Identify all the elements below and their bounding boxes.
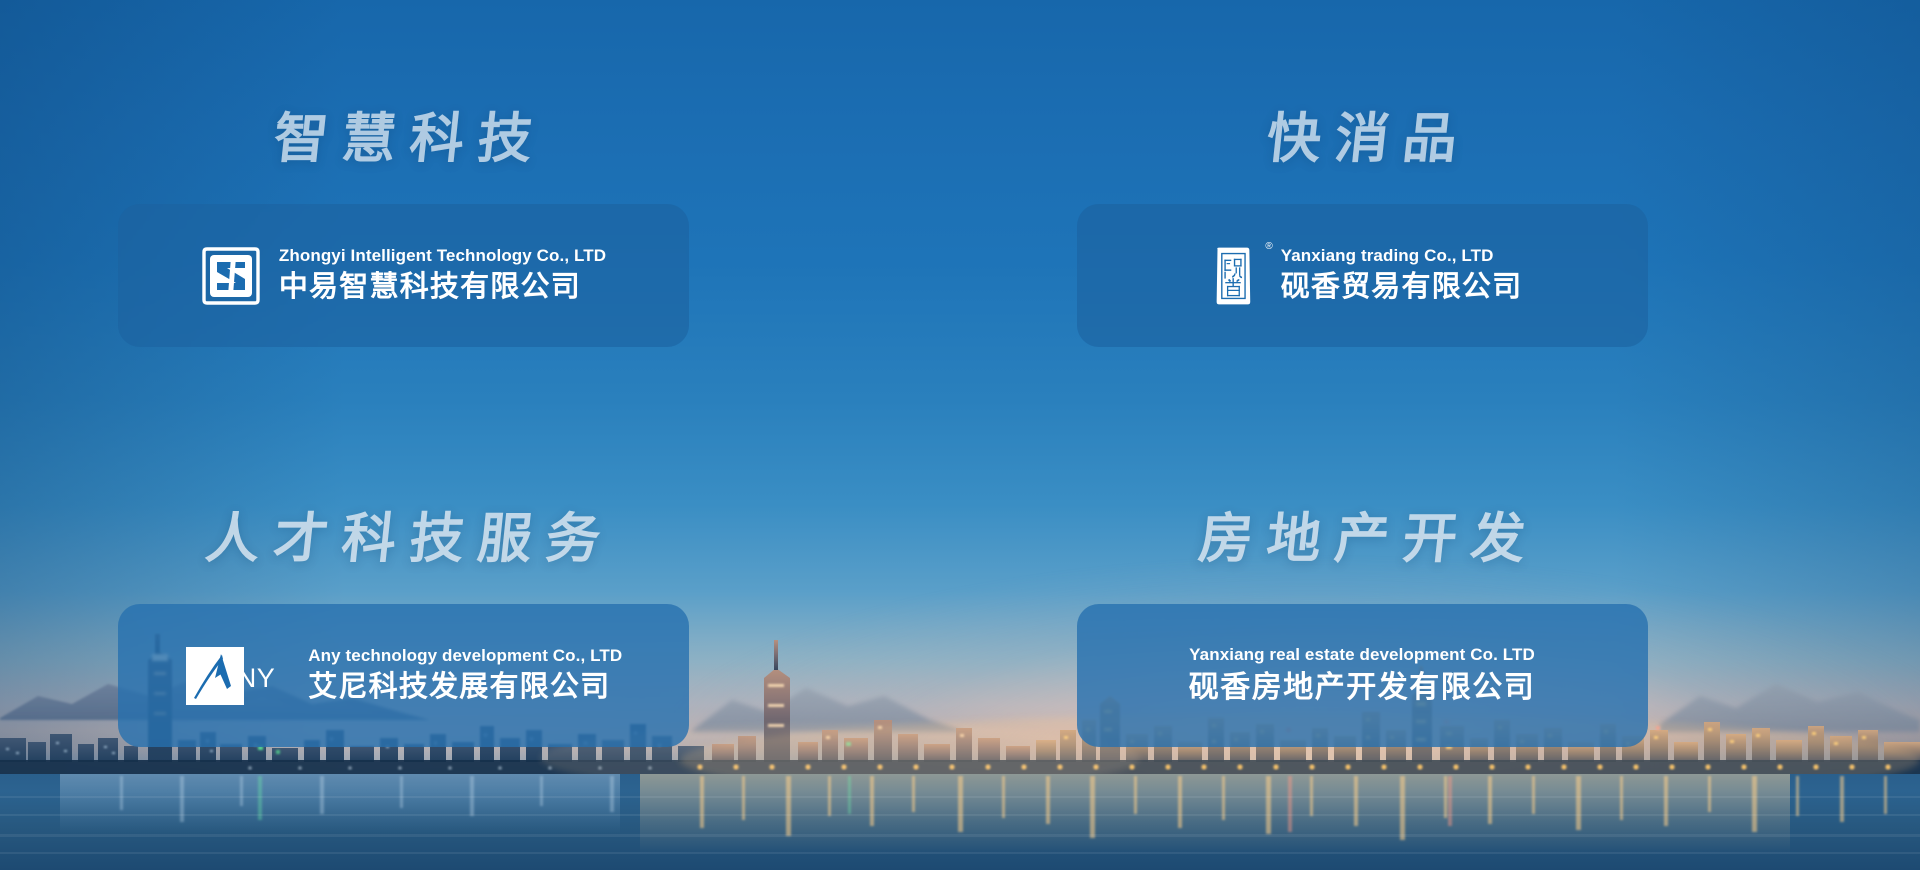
company-name-en: Yanxiang trading Co., LTD: [1281, 245, 1523, 266]
company-name-cn: 中易智慧科技有限公司: [279, 269, 606, 307]
company-card-zhongyi[interactable]: Zhongyi Intelligent Technology Co., LTD …: [118, 204, 689, 347]
segment-cell-fmcg: 快消品: [960, 0, 1920, 435]
company-card-yanxiang-real-estate[interactable]: Yanxiang real estate development Co. LTD…: [1077, 604, 1648, 747]
business-segments-banner: 智慧科技 Zhongyi Intelligent Tec: [0, 0, 1920, 870]
section-heading-talent-services: 人才科技服务: [50, 512, 756, 566]
company-name-cn: 砚香房地产开发有限公司: [1189, 668, 1536, 707]
company-name-en: Yanxiang real estate development Co. LTD: [1189, 644, 1535, 665]
segments-grid: 智慧科技 Zhongyi Intelligent Tec: [0, 0, 1920, 870]
section-heading-real-estate: 房地产开发: [1009, 512, 1715, 566]
registered-trademark-icon: ®: [1265, 242, 1272, 252]
segment-cell-talent-services: 人才科技服务: [0, 435, 960, 870]
segment-cell-smart-technology: 智慧科技 Zhongyi Intelligent Tec: [0, 0, 960, 435]
section-heading-fmcg: 快消品: [1009, 112, 1715, 166]
segment-cell-real-estate: 房地产开发 Yanxiang real estate development C…: [960, 435, 1920, 870]
company-name-en: Zhongyi Intelligent Technology Co., LTD: [279, 245, 606, 266]
company-name-cn: 砚香贸易有限公司: [1281, 269, 1523, 307]
company-name-en: Any technology development Co., LTD: [308, 645, 622, 666]
zhongyi-z-mark-logo: [200, 245, 262, 307]
yanxiang-seal-stamp-logo: ®: [1202, 245, 1264, 307]
section-heading-smart-technology: 智慧科技: [50, 112, 756, 166]
company-card-yanxiang-trading[interactable]: ® Yanxiang trading Co., LTD 砚香贸易有限公司: [1077, 204, 1648, 347]
company-name-cn: 艾尼科技发展有限公司: [308, 669, 622, 707]
company-card-any-technology[interactable]: NY Any technology development Co., LTD 艾…: [118, 604, 689, 747]
any-mountain-a-logo: [184, 645, 246, 707]
